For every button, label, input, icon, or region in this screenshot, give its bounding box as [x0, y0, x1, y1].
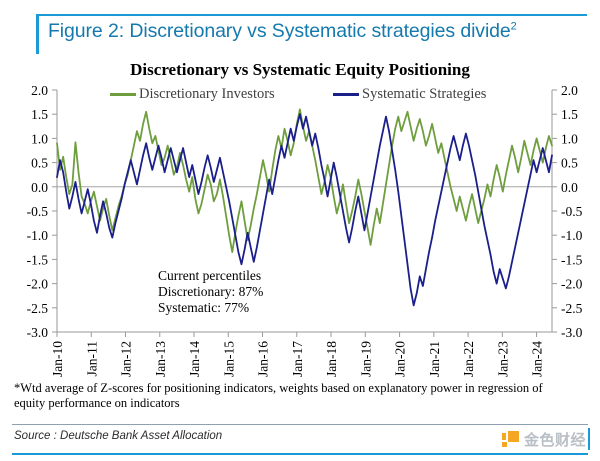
y-tick-label-right: -2.5 [561, 301, 583, 316]
y-tick-label-left: -2.5 [27, 301, 49, 316]
y-tick-label-left: -1.0 [27, 228, 49, 243]
y-tick-label-right: -3.0 [561, 325, 583, 340]
logo-square-shape [508, 431, 519, 442]
y-tick-label-left: 2.0 [31, 83, 48, 98]
annotation-current-percentiles: Current percentiles Discretionary: 87% S… [158, 268, 263, 316]
x-tick-label: Jan-18 [324, 341, 339, 377]
y-tick-label-right: 0.5 [561, 156, 578, 171]
logo-right-bar [588, 428, 590, 450]
logo-dot-shape [502, 442, 507, 447]
footnote-superscript: 2 [511, 21, 517, 33]
y-tick-label-right: -1.5 [561, 252, 583, 267]
y-tick-label-right: -1.0 [561, 228, 583, 243]
page-title: Figure 2: Discretionary vs Systematic st… [48, 20, 517, 43]
chart-plot-area: 2.02.01.51.51.01.00.50.50.00.0-0.5-0.5-1… [0, 58, 600, 378]
y-tick-label-right: 0.0 [561, 180, 578, 195]
x-tick-label: Jan-11 [84, 341, 99, 377]
header-top-rule [36, 14, 587, 16]
source-top-rule [12, 424, 588, 425]
x-tick-label: Jan-12 [119, 341, 134, 377]
y-tick-label-left: -1.5 [27, 252, 49, 267]
y-tick-label-right: -2.0 [561, 277, 583, 292]
annotation-line-1: Current percentiles [158, 268, 263, 284]
y-tick-label-left: 1.5 [31, 107, 48, 122]
x-tick-label: Jan-20 [393, 341, 408, 377]
source-text: Source : Deutsche Bank Asset Allocation [14, 430, 222, 442]
series-line-systematic [57, 114, 552, 305]
x-tick-label: Jan-17 [290, 341, 305, 377]
y-tick-label-left: 1.0 [31, 131, 48, 146]
y-tick-label-left: -3.0 [27, 325, 49, 340]
x-tick-label: Jan-10 [50, 341, 65, 377]
logo-mark-icon [502, 431, 519, 448]
header-left-bar [36, 14, 39, 54]
watermark-logo: 金色财经 [502, 428, 586, 450]
y-tick-label-right: 1.5 [561, 107, 578, 122]
annotation-line-3: Systematic: 77% [158, 300, 263, 316]
series-line-discretionary [57, 109, 552, 252]
annotation-line-2: Discretionary: 87% [158, 284, 263, 300]
source-bottom-rule [12, 453, 588, 455]
figure-title-text: Figure 2: Discretionary vs Systematic st… [48, 20, 511, 42]
x-tick-label: Jan-21 [427, 341, 442, 377]
y-tick-label-left: -2.0 [27, 277, 49, 292]
y-tick-label-left: 0.5 [31, 156, 48, 171]
x-tick-label: Jan-16 [256, 341, 271, 377]
logo-tail-shape [502, 433, 506, 440]
x-tick-label: Jan-19 [358, 341, 373, 377]
watermark-text: 金色财经 [524, 429, 586, 450]
chart-footnote: *Wtd average of Z-scores for positioning… [14, 381, 574, 412]
y-tick-label-right: 2.0 [561, 83, 578, 98]
x-tick-label: Jan-23 [495, 341, 510, 377]
x-tick-label: Jan-14 [187, 341, 202, 377]
figure-header: Figure 2: Discretionary vs Systematic st… [0, 14, 600, 58]
x-tick-label: Jan-24 [530, 341, 545, 377]
x-tick-label: Jan-13 [153, 341, 168, 377]
y-tick-label-left: -0.5 [27, 204, 49, 219]
y-tick-label-right: -0.5 [561, 204, 583, 219]
x-tick-label: Jan-15 [221, 341, 236, 377]
y-tick-label-right: 1.0 [561, 131, 578, 146]
y-tick-label-left: 0.0 [31, 180, 48, 195]
chart-container: Discretionary vs Systematic Equity Posit… [0, 58, 600, 378]
x-tick-label: Jan-22 [461, 341, 476, 377]
